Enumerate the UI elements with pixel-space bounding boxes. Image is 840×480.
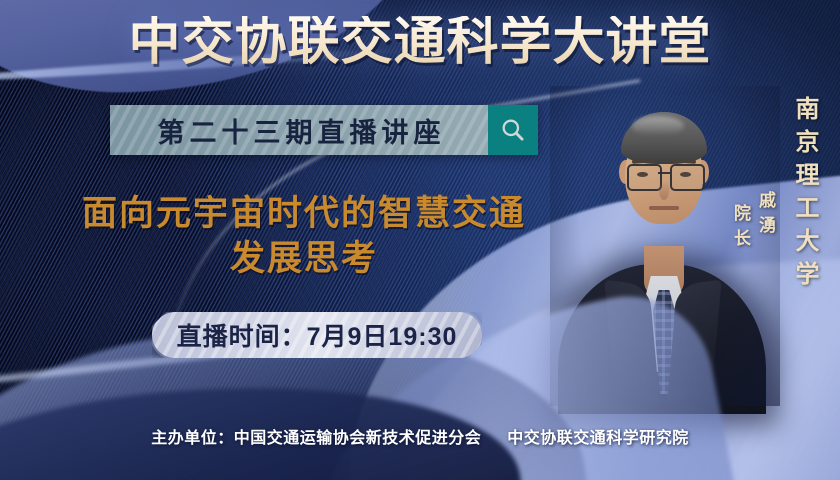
episode-banner: 第二十三期直播讲座 <box>110 105 538 155</box>
portrait-eyeglasses-bridge <box>658 172 670 174</box>
lecture-topic: 面向元宇宙时代的智慧交通 发展思考 <box>44 192 564 282</box>
lecture-topic-line-2: 发展思考 <box>44 237 564 282</box>
broadcast-time-label: 直播时间：7月9日19:30 <box>177 317 458 353</box>
speaker-organization: 南京理工大学 <box>787 96 822 294</box>
speaker-identity: 戚湧 院长 <box>728 106 778 326</box>
organizer-name-2: 中交协联交通科学研究院 <box>507 430 689 447</box>
organizer-footer: 主办单位：中国交通运输协会新技术促进分会中交协联交通科学研究院 <box>0 424 840 448</box>
portrait-eyeglasses-left <box>627 164 662 191</box>
portrait-hair-highlight <box>632 116 684 136</box>
broadcast-time-pill: 直播时间：7月9日19:30 <box>152 312 482 358</box>
speaker-name: 戚湧 <box>753 191 778 241</box>
episode-label: 第二十三期直播讲座 <box>153 111 446 150</box>
episode-banner-body: 第二十三期直播讲座 <box>110 105 488 155</box>
live-stream-poster: 中交协联交通科学大讲堂 第二十三期直播讲座 面向元宇宙时代的智慧交通 发展思考 … <box>0 0 840 480</box>
search-icon <box>500 117 526 143</box>
portrait-mouth <box>649 206 679 210</box>
portrait-eyeglasses-right <box>670 164 705 191</box>
lecture-topic-line-1: 面向元宇宙时代的智慧交通 <box>44 192 564 237</box>
search-icon-box[interactable] <box>488 105 538 155</box>
portrait-nose <box>659 180 669 200</box>
main-title: 中交协联交通科学大讲堂 <box>0 16 840 68</box>
speaker-title: 院长 <box>728 204 753 254</box>
organizer-prefix: 主办单位： <box>151 430 234 447</box>
organizer-name-1: 中国交通运输协会新技术促进分会 <box>234 430 482 447</box>
